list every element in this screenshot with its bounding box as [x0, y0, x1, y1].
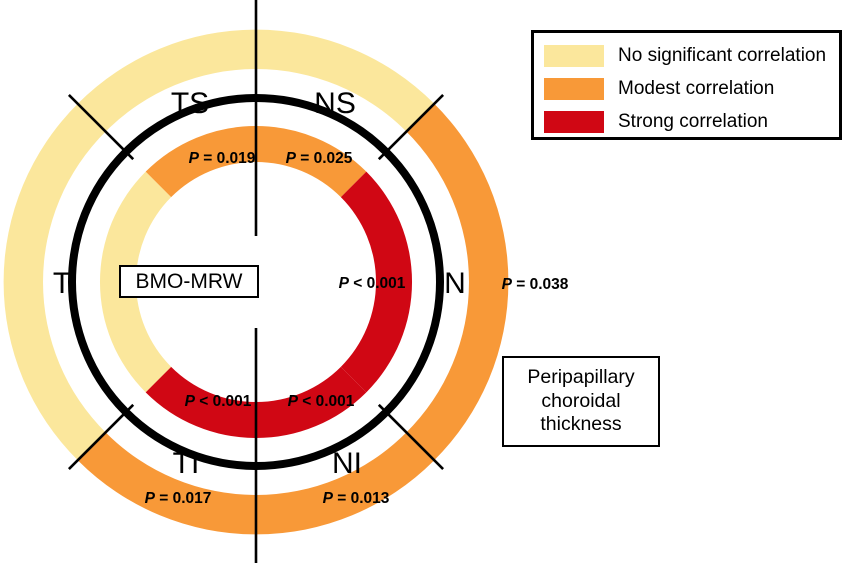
legend-item-no-significant[interactable]: No significant correlation: [544, 40, 829, 71]
legend-item-strong[interactable]: Strong correlation: [544, 106, 829, 137]
sector-label-NI: NI: [332, 447, 362, 480]
legend-label-modest: Modest correlation: [618, 79, 774, 98]
legend-label-strong: Strong correlation: [618, 112, 768, 131]
peripapillary-caption-line2: choroidal: [541, 390, 620, 414]
legend-label-no-significant: No significant correlation: [618, 46, 826, 65]
pvalue-inner-N: P < 0.001: [339, 275, 406, 292]
legend-item-modest[interactable]: Modest correlation: [544, 73, 829, 104]
sector-label-N: N: [444, 267, 466, 300]
legend-swatch-no-significant: [544, 45, 604, 67]
peripapillary-caption-box: Peripapillary choroidal thickness: [502, 356, 660, 447]
outer-sector-TS[interactable]: [78, 30, 256, 132]
peripapillary-caption-line3: thickness: [540, 413, 621, 437]
outer-sector-TI[interactable]: [78, 433, 256, 535]
pvalue-inner-NI: P < 0.001: [288, 393, 355, 410]
pvalue-inner-TI: P < 0.001: [185, 393, 252, 410]
legend-swatch-modest: [544, 78, 604, 100]
legend: No significant correlation Modest correl…: [531, 30, 842, 140]
sector-label-T: T: [53, 267, 71, 300]
sector-label-TI: TI: [173, 447, 200, 480]
figure-canvas: TS NS T N TI NI P = 0.019 P = 0.025 P < …: [0, 0, 850, 563]
pvalue-inner-TS: P = 0.019: [189, 150, 256, 167]
pvalue-outer-N: P = 0.038: [502, 276, 569, 293]
bmo-mrw-caption-text: BMO-MRW: [136, 270, 243, 294]
peripapillary-caption-line1: Peripapillary: [527, 366, 634, 390]
bmo-mrw-caption-box: BMO-MRW: [119, 265, 259, 298]
legend-swatch-strong: [544, 111, 604, 133]
pvalue-outer-TI: P = 0.017: [145, 490, 212, 507]
pvalue-inner-NS: P = 0.025: [286, 150, 353, 167]
sector-label-NS: NS: [314, 87, 356, 120]
pvalue-outer-NI: P = 0.013: [323, 490, 390, 507]
sector-label-TS: TS: [171, 87, 209, 120]
